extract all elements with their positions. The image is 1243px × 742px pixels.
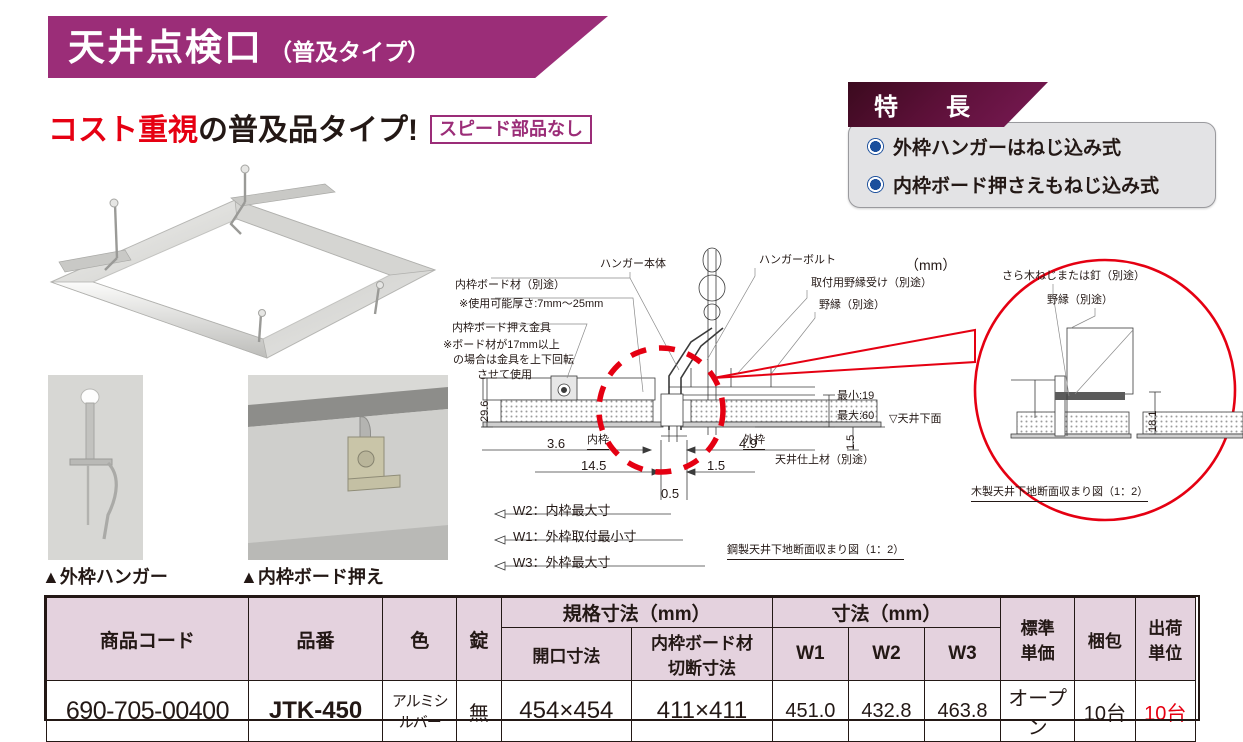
col-unit-price-line1: 標準 [1021,619,1055,638]
technical-drawing: （mm） ハンガー本体 ハンガーボルト 取付用野縁受け（別途） 野縁（別途） 内… [455,250,1235,570]
cell-product-code: 690-705-00400 [47,681,249,742]
label-hanger-bolt: ハンガーボルト [759,254,836,268]
cell-unit-price: オープン [1001,681,1075,742]
product-photo-board-clamp [248,375,448,560]
label-nobuchi-receiver: 取付用野縁受け（別途） [811,277,932,291]
hatch-frame-illustration [35,162,450,377]
product-photo-hanger [48,375,143,560]
cell-color: アルミシルバー [383,681,457,742]
feature-item: 外枠ハンガーはねじ込み式 [849,127,1215,165]
col-unit-price-line2: 単価 [1021,644,1055,663]
photo-caption-board-clamp: ▲内枠ボード押え [240,563,384,589]
cell-lock: 無 [457,681,501,742]
tagline-highlight: コスト重視 [48,105,198,149]
product-photo-main [35,162,450,377]
col-lock: 錠 [457,598,501,681]
col-group-dims: 寸法（mm） [772,598,1000,628]
features-heading-tab: 特 長 [848,82,1048,127]
col-model-no: 品番 [248,598,382,681]
col-w1: W1 [772,628,848,681]
detail-label-nobuchi: 野縁（別途） [1047,294,1113,308]
col-packing: 梱包 [1075,598,1135,681]
tagline-text: の普及品タイプ! [198,105,418,149]
col-ship-unit-line1: 出荷 [1148,619,1182,638]
label-ceiling-finish: 天井仕上材（別途） [775,454,874,468]
col-board-cut-size: 内枠ボード材 切断寸法 [632,628,773,681]
label-hanger-body: ハンガー本体 [600,258,666,272]
cell-board-cut-size: 411×411 [632,681,773,742]
label-inner-board: 内枠ボード材（別途） [455,279,565,293]
cell-ship-unit: 10台 [1135,681,1195,742]
col-ship-unit-line2: 単位 [1148,644,1182,663]
note-w2: W2：内枠最大寸 [513,503,611,519]
dimension-0-5: 0.5 [661,486,679,502]
col-w2: W2 [848,628,924,681]
note-w3: W3：外枠最大寸 [513,555,611,571]
label-ceiling-underside: ▽天井下面 [889,413,941,427]
spec-table: 商品コード 品番 色 錠 規格寸法（mm） 寸法（mm） 標準 単価 梱包 出荷… [46,597,1196,742]
features-heading: 特 長 [874,87,982,122]
label-board-clamp-note-2: の場合は金具を上下回転 [453,354,574,368]
detail-dimension-18-1: 18.1 [1147,411,1159,432]
col-ship-unit: 出荷 単位 [1135,598,1195,681]
page-subtitle: （普及タイプ） [269,33,430,67]
dimension-1-5: 1.5 [707,458,725,474]
cell-packing: 10台 [1075,681,1135,742]
label-board-clamp-note-1: ※ボード材が17mm以上 [443,339,560,353]
cell-w2: 432.8 [848,681,924,742]
col-board-cut-size-line1: 内枠ボード材 [651,634,753,653]
col-board-cut-size-line2: 切断寸法 [668,659,736,678]
features-panel: 特 長 外枠ハンガーはねじ込み式 内枠ボード押さえもねじ込み式 [848,82,1218,210]
cell-opening-size: 454×454 [501,681,632,742]
dimension-14-5: 14.5 [581,458,606,474]
col-color: 色 [383,598,457,681]
dimension-3-6: 3.6 [547,436,565,452]
caption-wood-section: 木製天井下地断面収まり図（1：2） [971,486,1148,502]
col-unit-price: 標準 単価 [1001,598,1075,681]
features-list: 外枠ハンガーはねじ込み式 内枠ボード押さえもねじ込み式 [848,122,1216,208]
title-banner: 天井点検口 （普及タイプ） [48,16,608,78]
bullet-icon [867,138,884,155]
note-w1: W1：外枠取付最小寸 [513,529,637,545]
caption-steel-section: 鋼製天井下地断面収まり図（1：2） [727,544,904,560]
col-group-standard-dims: 規格寸法（mm） [501,598,772,628]
label-nobuchi: 野縁（別途） [819,299,885,313]
label-board-clamp-note-3: させて使用 [477,369,532,383]
cell-w1: 451.0 [772,681,848,742]
label-max: 最大:60 [837,410,874,424]
spec-table-head: 商品コード 品番 色 錠 規格寸法（mm） 寸法（mm） 標準 単価 梱包 出荷… [47,598,1196,681]
label-inner-frame: 内枠 [587,434,609,450]
col-product-code: 商品コード [47,598,249,681]
page-title: 天井点検口 [68,29,263,66]
catalog-page: 天井点検口 （普及タイプ） コスト重視 の普及品タイプ! スピード部品なし 特 … [0,0,1243,723]
table-header-row-1: 商品コード 品番 色 錠 規格寸法（mm） 寸法（mm） 標準 単価 梱包 出荷… [47,598,1196,628]
detail-label-screw: さら木ねじまたは釘（別途） [1002,270,1145,284]
cell-w3: 463.8 [924,681,1000,742]
photo-caption-hanger: ▲外枠ハンガー [42,563,168,589]
dimension-29-6: 29.6 [479,401,491,422]
col-opening-size: 開口寸法 [501,628,632,681]
spec-table-body: 690-705-00400 JTK-450 アルミシルバー 無 454×454 … [47,681,1196,742]
label-min: 最小:19 [837,390,874,404]
col-w3: W3 [924,628,1000,681]
feature-item: 内枠ボード押さえもねじ込み式 [849,165,1215,203]
cell-model-no: JTK-450 [248,681,382,742]
dimension-1-5-right: 1.5 [845,435,857,450]
feature-item-label: 外枠ハンガーはねじ込み式 [893,133,1121,160]
drawing-unit-label: （mm） [905,255,956,275]
hanger-part-illustration [48,375,143,560]
board-clamp-illustration [248,375,448,560]
table-row: 690-705-00400 JTK-450 アルミシルバー 無 454×454 … [47,681,1196,742]
label-inner-board-note: ※使用可能厚さ:7mm〜25mm [459,298,603,312]
bullet-icon [867,176,884,193]
label-board-clamp: 内枠ボード押え金具 [452,322,551,336]
tagline: コスト重視 の普及品タイプ! スピード部品なし [48,105,592,149]
dimension-4-9: 4.9 [739,436,757,452]
feature-item-label: 内枠ボード押さえもねじ込み式 [893,171,1159,198]
status-badge: スピード部品なし [430,115,592,144]
